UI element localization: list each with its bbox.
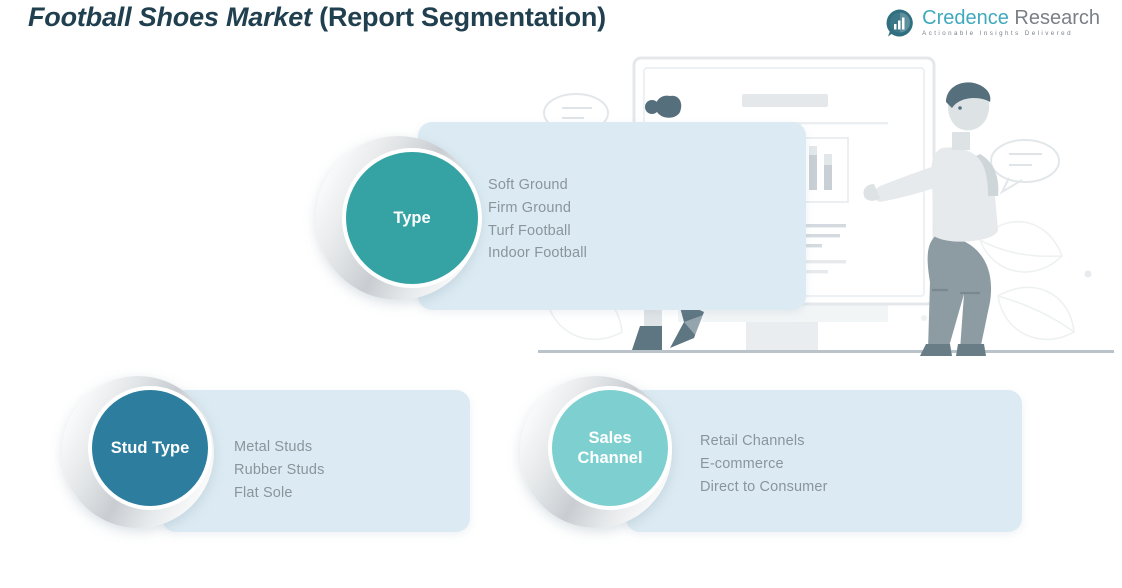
segment-card-type[interactable]: Type Soft Ground Firm Ground Turf Footba… [306,122,806,312]
page-title-upright: (Report Segmentation) [319,2,606,32]
infographic-canvas: Football Shoes Market (Report Segmentati… [0,0,1122,588]
segment-label-sales-channel: Sales Channel [577,428,642,468]
logo-word-credence: Credence [922,7,1009,29]
segment-card-sales-channel[interactable]: Sales Channel Retail Channels E-commerce… [520,376,1022,536]
list-item: Soft Ground [488,174,587,197]
list-item: Metal Studs [234,436,324,459]
page-title-italic: Football Shoes Market [28,2,319,32]
segment-circle-sales-channel[interactable]: Sales Channel [548,386,672,510]
segment-items-stud-type: Metal Studs Rubber Studs Flat Sole [234,436,324,504]
logo-word-research: Research [1009,7,1100,29]
list-item: Direct to Consumer [700,476,828,499]
segment-card-stud-type[interactable]: Stud Type Metal Studs Rubber Studs Flat … [62,376,470,536]
segment-circle-type[interactable]: Type [342,148,482,288]
segment-circle-stud-type[interactable]: Stud Type [88,386,212,510]
list-item: Retail Channels [700,430,828,453]
segment-label-type: Type [393,208,430,228]
standing-presenter-illustration [863,82,998,356]
credence-research-logo: Credence Research Actionable Insights De… [885,5,1100,41]
segment-items-type: Soft Ground Firm Ground Turf Football In… [488,174,587,265]
segment-label-line1: Sales [588,429,631,447]
credence-bar-chart-bubble-icon [885,8,915,38]
segment-items-sales-channel: Retail Channels E-commerce Direct to Con… [700,430,828,498]
list-item: Turf Football [488,220,587,243]
monitor-stand [746,318,818,350]
logo-tagline: Actionable Insights Delivered [922,31,1100,37]
speech-bubble-right-icon [991,140,1059,192]
list-item: Indoor Football [488,242,587,265]
list-item: Firm Ground [488,197,587,220]
segment-label-line2: Channel [577,449,642,467]
list-item: Flat Sole [234,482,324,505]
logo-wordmark: Credence Research [922,8,1100,28]
list-item: E-commerce [700,453,828,476]
list-item: Rubber Studs [234,459,324,482]
logo-text-block: Credence Research Actionable Insights De… [922,8,1100,37]
floor-line [538,350,1114,353]
segment-label-stud-type: Stud Type [111,438,190,458]
page-title: Football Shoes Market (Report Segmentati… [28,2,606,33]
